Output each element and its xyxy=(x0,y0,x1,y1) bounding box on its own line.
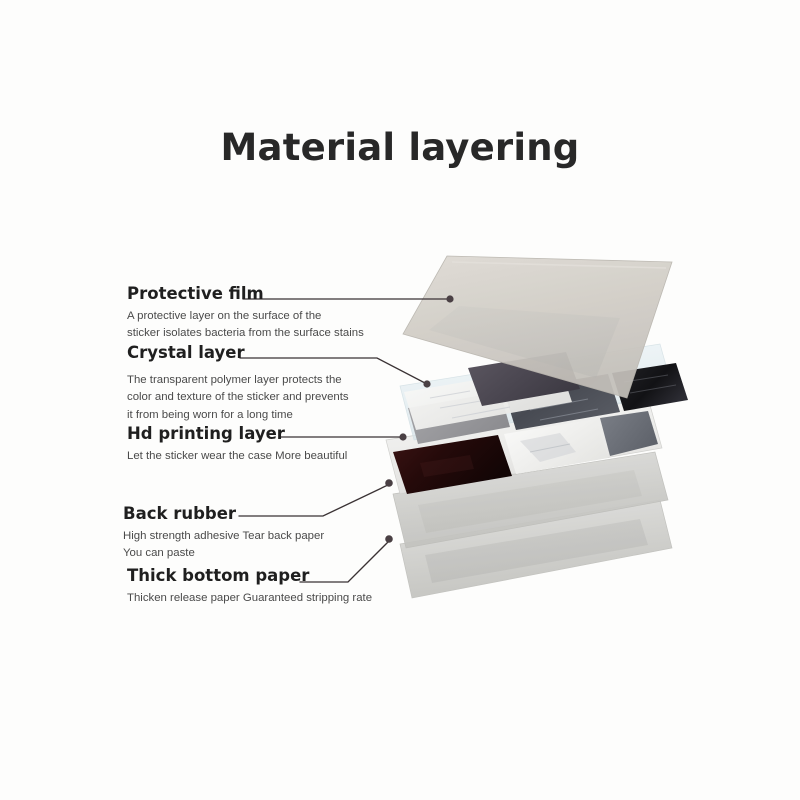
leader-dot-protective-film xyxy=(446,295,453,302)
callout-desc-line: The transparent polymer layer protects t… xyxy=(127,372,447,389)
callout-description: The transparent polymer layer protects t… xyxy=(127,372,447,424)
callout-desc-line: You can paste xyxy=(123,545,443,562)
callout-desc-line: sticker isolates bacteria from the surfa… xyxy=(127,325,447,342)
callout-protective-film: Protective film A protective layer on th… xyxy=(127,285,447,343)
callout-description: Thicken release paper Guaranteed strippi… xyxy=(127,590,447,607)
callout-desc-line: Thicken release paper Guaranteed strippi… xyxy=(127,590,447,607)
charcoal-marble-strip xyxy=(504,374,620,430)
callout-title: Crystal layer xyxy=(127,344,447,363)
callout-description: Let the sticker wear the case More beaut… xyxy=(127,448,447,465)
callout-title: Back rubber xyxy=(123,505,443,524)
white-marble-strip xyxy=(504,419,608,474)
callout-description: A protective layer on the surface of the… xyxy=(127,308,447,343)
callout-back-rubber: Back rubber High strength adhesive Tear … xyxy=(123,505,443,563)
callout-hd-printing-layer: Hd printing layer Let the sticker wear t… xyxy=(127,425,447,465)
print-swatches-row-middle xyxy=(408,363,688,444)
dark-gray-strip xyxy=(468,352,580,406)
slate-strip xyxy=(600,411,658,456)
callout-desc-line: color and texture of the sticker and pre… xyxy=(127,389,447,406)
black-marble-strip xyxy=(612,363,688,411)
callout-desc-line: High strength adhesive Tear back paper xyxy=(123,528,443,545)
callout-desc-line: it from being worn for a long time xyxy=(127,407,447,424)
callout-title: Protective film xyxy=(127,285,447,304)
callout-title: Thick bottom paper xyxy=(127,567,447,586)
callout-desc-line: A protective layer on the surface of the xyxy=(127,308,447,325)
page-title: Material layering xyxy=(0,126,800,169)
diagram-canvas: Material layering xyxy=(0,0,800,800)
callout-desc-line: Let the sticker wear the case More beaut… xyxy=(127,448,447,465)
callout-thick-bottom-paper: Thick bottom paper Thicken release paper… xyxy=(127,567,447,607)
leader-dot-back-rubber xyxy=(385,479,393,487)
callout-title: Hd printing layer xyxy=(127,425,447,444)
callout-description: High strength adhesive Tear back paper Y… xyxy=(123,528,443,563)
callout-crystal-layer: Crystal layer The transparent polymer la… xyxy=(127,344,447,424)
